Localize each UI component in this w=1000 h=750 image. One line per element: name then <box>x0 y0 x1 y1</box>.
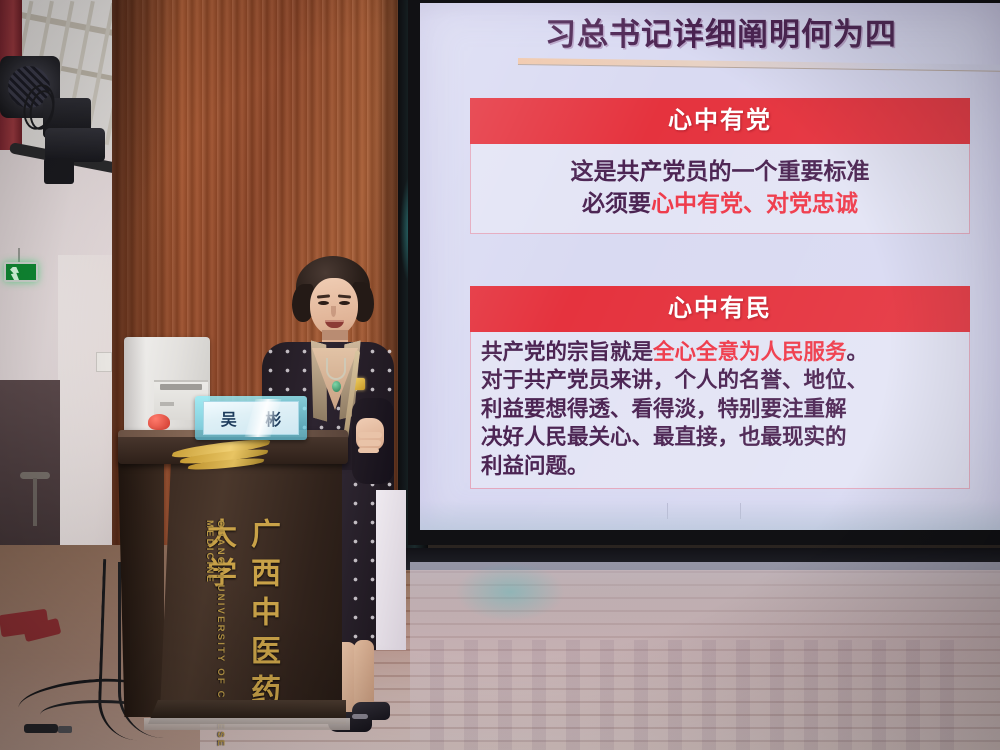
screen-stand-panel <box>376 490 406 650</box>
text-plain: 共产党的宗旨就是 <box>481 340 653 364</box>
slide-card-1: 心中有党 这是共产党员的一个重要标准 必须要心中有党、对党忠诚 <box>470 98 970 234</box>
cable-connector <box>58 726 72 733</box>
jade-pendant <box>332 381 341 392</box>
floor-reflection-detail <box>430 640 970 750</box>
text-plain: 。 <box>847 340 869 364</box>
projection-screen: 习总书记详细阐明何为四 心中有党 这是共产党员的一个重要标准 必须要心中有党、对… <box>420 3 1000 530</box>
stage-light-fixture <box>45 128 105 162</box>
card-2-body: 共产党的宗旨就是全心全意为人民服务。 对于共产党员来讲，个人的名誉、地位、 利益… <box>470 332 970 489</box>
shoe-highlight <box>352 714 368 719</box>
podium-base-trim <box>144 718 350 730</box>
slide-card-2: 心中有民 共产党的宗旨就是全心全意为人民服务。 对于共产党员来讲，个人的名誉、地… <box>470 286 970 489</box>
finger <box>358 448 379 453</box>
appliance-tap <box>160 402 174 406</box>
card-2-line-5: 利益问题。 <box>481 452 961 480</box>
finger <box>358 432 382 438</box>
card-2-heading: 心中有民 <box>470 286 970 332</box>
appliance-vent-slot <box>160 384 202 390</box>
red-object <box>148 414 170 430</box>
ceiling-speaker <box>44 158 74 184</box>
card-2-line-2: 对于共产党员来讲，个人的名誉、地位、 <box>481 366 961 394</box>
text-plain: 必须要 <box>582 190 651 216</box>
nose <box>331 306 336 317</box>
neck-shadow <box>322 330 348 340</box>
appliance-shadow <box>124 337 146 435</box>
card-1-line-1: 这是共产党员的一个重要标准 <box>477 156 963 188</box>
screen-bottom-glow <box>420 500 1000 530</box>
eye-right <box>339 301 350 305</box>
slide-title: 习总书记详细阐明何为四 <box>545 9 1000 54</box>
exit-icon <box>4 262 38 282</box>
card-2-line-3: 利益要想得透、看得淡，特别要注重解 <box>481 395 961 423</box>
finger <box>358 440 381 446</box>
floor-teal-reflection <box>455 562 565 622</box>
card-1-body: 这是共产党员的一个重要标准 必须要心中有党、对党忠诚 <box>470 144 970 234</box>
mic-stand <box>33 478 37 526</box>
card-1-heading: 心中有党 <box>470 98 970 144</box>
exit-sign-stem <box>18 248 20 262</box>
text-highlight: 心中有党、对党忠诚 <box>651 190 858 216</box>
wall-outlet-plate <box>96 352 112 372</box>
slide-divider-bar <box>518 58 1000 72</box>
card-2-line-4: 决好人民最关心、最直接，也最现实的 <box>481 423 961 451</box>
card-1-line-2: 必须要心中有党、对党忠诚 <box>477 188 963 220</box>
podium-left-face <box>118 455 164 717</box>
text-highlight: 全心全意为人民服务 <box>653 340 847 364</box>
eye-left <box>318 301 329 305</box>
text-plain: 这是共产党员的一个重要标准 <box>571 158 870 184</box>
cable-connector <box>24 724 58 733</box>
lecture-hall-photo: 习总书记详细阐明何为四 心中有党 这是共产党员的一个重要标准 必须要心中有党、对… <box>0 0 1000 750</box>
necklace <box>326 358 346 380</box>
card-2-line-1: 共产党的宗旨就是全心全意为人民服务。 <box>481 338 961 366</box>
